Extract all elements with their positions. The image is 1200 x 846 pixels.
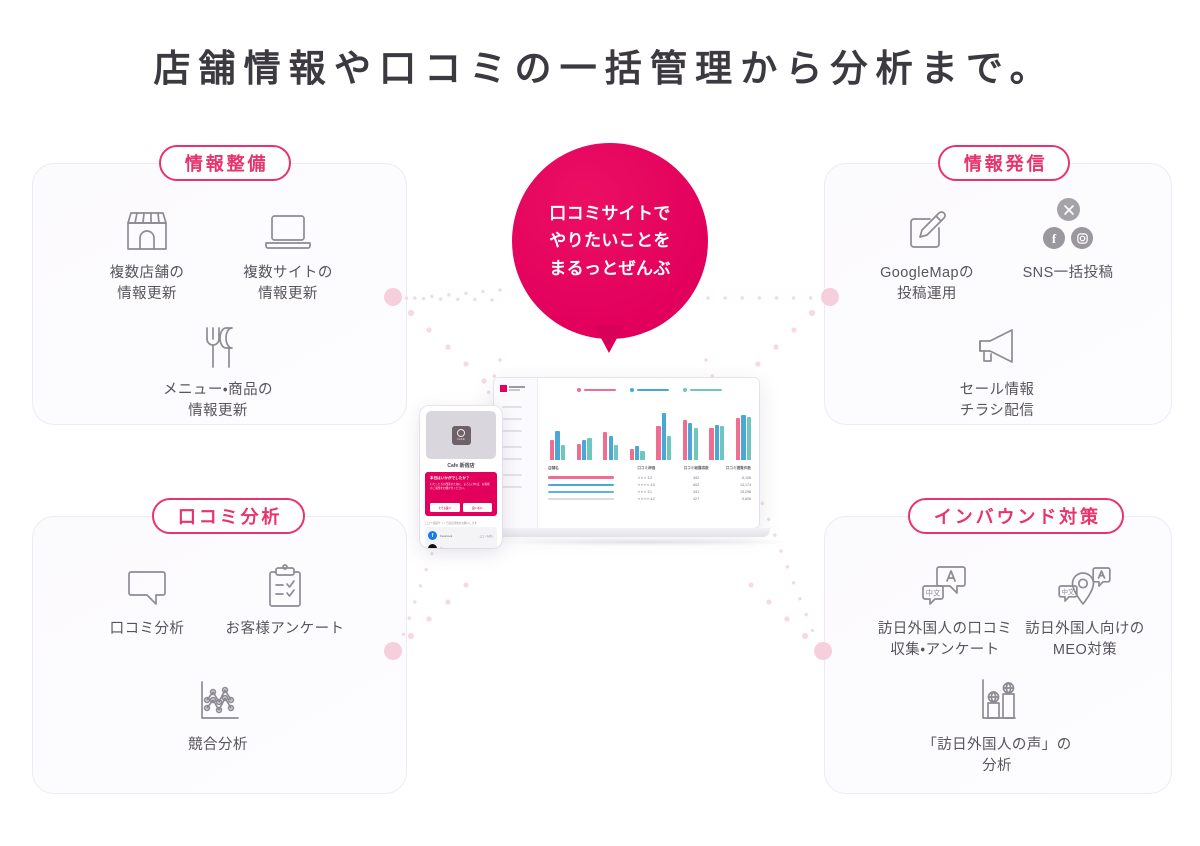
chart-bar — [683, 420, 687, 460]
laptop-shadow — [498, 538, 798, 546]
chart-bar-group — [683, 420, 698, 460]
table-cell-views: 13,174 — [714, 483, 751, 487]
table-row[interactable]: ★★★3.134115,298 — [546, 488, 753, 495]
laptop-screen: 店舗名口コミ評価口コミ総獲得数口コミ閲覧件数 ★★★3.34928,106★★★… — [494, 378, 759, 528]
table-cell-total: 492 — [678, 476, 715, 480]
cutlery-icon — [133, 313, 303, 371]
chart-bar-group — [603, 432, 618, 460]
table-cell-views: 8,106 — [714, 476, 751, 480]
feature-label: セール情報 チラシ配信 — [912, 380, 1082, 422]
table-column-header: 口コミ評価 — [637, 466, 678, 471]
feature-customer-survey[interactable]: お客様アンケート — [200, 552, 370, 640]
infographic-stage: 店舗情報や口コミの一括管理から分析まで。 情報整備 情報発信 口コミ分析 インバ… — [0, 0, 1200, 846]
center-bubble: 口コミサイトで やりたいことを まるっとぜんぶ — [512, 143, 708, 358]
table-cell-total: 427 — [678, 497, 715, 501]
chart-bar — [603, 432, 607, 460]
survey-body: わたしたちの改善のために、よろしければ、お客様のご感想をお聞かせください。 — [430, 483, 492, 491]
chart-bar — [550, 440, 554, 460]
globe-bar-chart-icon — [912, 668, 1082, 726]
legend-item — [630, 388, 669, 392]
phone-list-note: 口コミ投稿サイトで最高評価をお願いします — [425, 521, 477, 525]
chart-bar — [747, 417, 751, 460]
chart-bar — [577, 444, 581, 460]
list-item-action: 口コミを書く — [480, 534, 494, 538]
table-cell-rating: ★★★3.3 — [637, 476, 678, 480]
bubble-line-2: やりたいことを — [549, 227, 670, 255]
table-cell-rating: ★★★3.1 — [637, 490, 678, 494]
phone-mockup: CAFE Cafe 新宿店 本日はいかがでしたか？ わたしたちの改善のために、よ… — [420, 406, 502, 548]
logo-wordmark — [509, 386, 525, 391]
table-cell-store — [548, 491, 637, 493]
feature-label: 訪日外国人向けの MEO対策 — [1000, 619, 1170, 661]
chart-bar — [667, 436, 671, 460]
phone-store-name: Cafe 新宿店 — [420, 462, 502, 469]
map-pin-translate-icon: 中文 — [1000, 552, 1170, 610]
chart-bar — [630, 449, 634, 460]
list-item-action: 口コミを書く — [480, 547, 494, 549]
phone-logo: CAFE — [452, 426, 471, 445]
dashboard-table: 店舗名口コミ評価口コミ総獲得数口コミ閲覧件数 ★★★3.34928,106★★★… — [546, 466, 753, 524]
chart-bar — [656, 426, 660, 461]
list-item[interactable]: 口コミ 口コミを書く — [427, 542, 495, 548]
chart-bar — [561, 445, 565, 461]
legend-item — [577, 388, 616, 392]
survey-positive-button[interactable]: とても良い — [430, 503, 460, 512]
chart-bar — [736, 418, 740, 460]
feature-inbound-meo[interactable]: 中文 訪日外国人向けの MEO対策 — [1000, 552, 1170, 661]
chart-bar — [715, 425, 719, 461]
chart-bar-group — [550, 431, 565, 460]
table-cell-store — [548, 484, 637, 486]
chart-bar — [709, 428, 713, 460]
list-item-name: 口コミ — [440, 547, 477, 549]
chart-bar — [635, 446, 639, 460]
bubble-text: 口コミサイトで やりたいことを まるっとぜんぶ — [512, 143, 708, 339]
sns-cluster-icon: f — [983, 196, 1153, 254]
clipboard-check-icon — [200, 552, 370, 610]
sidebar-nav-item[interactable] — [502, 418, 522, 420]
table-body: ★★★3.34928,106★★★★4.060213,174★★★3.13411… — [546, 474, 753, 503]
feature-competitor-analysis[interactable]: 競合分析 — [133, 668, 303, 756]
svg-text:中文: 中文 — [1062, 587, 1075, 596]
table-column-header: 口コミ閲覧件数 — [714, 466, 751, 471]
sidebar-nav-item[interactable] — [502, 446, 522, 448]
feature-label: お客様アンケート — [200, 619, 370, 640]
sidebar-nav-item[interactable] — [502, 430, 522, 432]
legend-item — [683, 388, 722, 392]
chart-bars — [550, 408, 751, 460]
laptop-base — [482, 528, 770, 537]
list-item[interactable]: f Facebook 口コミを書く — [427, 529, 495, 542]
instagram-icon — [1071, 227, 1093, 249]
chart-bar — [587, 438, 591, 460]
chart-bar-group — [709, 425, 724, 461]
table-cell-total: 602 — [678, 483, 715, 487]
bubble-line-3: まるっとぜんぶ — [549, 255, 670, 283]
feature-inbound-voice-analysis[interactable]: 「訪日外国人の声」の 分析 — [912, 668, 1082, 777]
scatter-chart-icon — [133, 668, 303, 726]
survey-buttons: とても良い 良くない — [430, 503, 492, 512]
table-row[interactable]: ★★★★4.24279,606 — [546, 496, 753, 503]
table-cell-views: 9,606 — [714, 497, 751, 501]
laptop-mockup: 店舗名口コミ評価口コミ総獲得数口コミ閲覧件数 ★★★3.34928,106★★★… — [482, 378, 770, 548]
sidebar-nav-item[interactable] — [502, 486, 522, 488]
dashboard-bar-chart — [546, 386, 753, 460]
table-row[interactable]: ★★★3.34928,106 — [546, 474, 753, 481]
table-cell-store — [548, 498, 637, 500]
device-mockup: 店舗名口コミ評価口コミ総獲得数口コミ閲覧件数 ★★★3.34928,106★★★… — [420, 378, 800, 578]
survey-heading: 本日はいかがでしたか？ — [430, 476, 492, 481]
table-cell-store — [548, 476, 637, 478]
chart-bar — [694, 428, 698, 460]
feature-multi-site-update[interactable]: 複数サイトの 情報更新 — [203, 196, 373, 305]
phone-survey-card: 本日はいかがでしたか？ わたしたちの改善のために、よろしければ、お客様のご感想を… — [425, 472, 497, 516]
table-header-row: 店舗名口コミ評価口コミ総獲得数口コミ閲覧件数 — [546, 466, 753, 474]
feature-label: 競合分析 — [133, 735, 303, 756]
table-cell-total: 341 — [678, 490, 715, 494]
sidebar-nav-item[interactable] — [502, 474, 522, 476]
facebook-icon: f — [1043, 227, 1065, 249]
chart-bar — [720, 426, 724, 460]
feature-sns-bulk-post[interactable]: f SNS一括投稿 — [983, 196, 1153, 284]
connector-tl — [398, 298, 492, 300]
pill-top-right[interactable]: 情報発信 — [938, 145, 1070, 181]
feature-label: SNS一括投稿 — [983, 263, 1153, 284]
table-cell-rating: ★★★★4.2 — [637, 497, 678, 501]
survey-negative-button[interactable]: 良くない — [463, 503, 493, 512]
phone-review-site-list: f Facebook 口コミを書く 口コミ 口コミを書く — [425, 527, 497, 548]
table-column-header: 店舗名 — [548, 466, 637, 471]
pill-bottom-left[interactable]: 口コミ分析 — [152, 498, 305, 534]
chart-legend — [546, 388, 753, 392]
connector-top-left — [395, 290, 500, 300]
list-item-name: Facebook — [440, 534, 477, 538]
chart-bar-group — [736, 415, 751, 461]
table-cell-rating: ★★★★4.0 — [637, 483, 678, 487]
table-column-header: 口コミ総獲得数 — [678, 466, 715, 471]
bubble-line-1: 口コミサイトで — [549, 200, 670, 228]
chart-bar — [614, 445, 618, 461]
table-row[interactable]: ★★★★4.060213,174 — [546, 481, 753, 488]
pill-bottom-right[interactable]: インバウンド対策 — [908, 498, 1124, 534]
laptop-icon — [203, 196, 373, 254]
chart-bar — [555, 431, 559, 460]
phone-hero-image: CAFE — [426, 411, 496, 459]
pill-top-left[interactable]: 情報整備 — [159, 145, 291, 181]
feature-label: メニュー・商品の 情報更新 — [133, 380, 303, 422]
chart-bar — [662, 413, 666, 460]
sidebar-nav-item[interactable] — [502, 458, 522, 460]
dashboard-logo — [500, 385, 525, 392]
chart-bar — [741, 415, 745, 461]
table-cell-views: 15,298 — [714, 490, 751, 494]
feature-label: 「訪日外国人の声」の 分析 — [912, 735, 1082, 777]
page-title: 店舗情報や口コミの一括管理から分析まで。 — [0, 38, 1200, 92]
sidebar-nav-item[interactable] — [502, 406, 522, 408]
feature-sale-flyer[interactable]: セール情報 チラシ配信 — [912, 313, 1082, 422]
megaphone-icon — [912, 313, 1082, 371]
chart-bar — [640, 451, 644, 460]
facebook-icon: f — [428, 531, 437, 540]
chart-bar-group — [656, 413, 671, 460]
feature-label: 複数サイトの 情報更新 — [203, 263, 373, 305]
x-icon — [1057, 198, 1080, 221]
chart-bar — [609, 436, 613, 460]
chart-bar-group — [630, 446, 645, 460]
feature-menu-product-update[interactable]: メニュー・商品の 情報更新 — [133, 313, 303, 422]
chart-bar — [582, 440, 586, 460]
chart-bar — [688, 423, 692, 460]
app-icon — [428, 544, 437, 548]
svg-text:中文: 中文 — [926, 588, 941, 598]
chart-bar-group — [577, 438, 592, 460]
logo-mark — [500, 385, 507, 392]
